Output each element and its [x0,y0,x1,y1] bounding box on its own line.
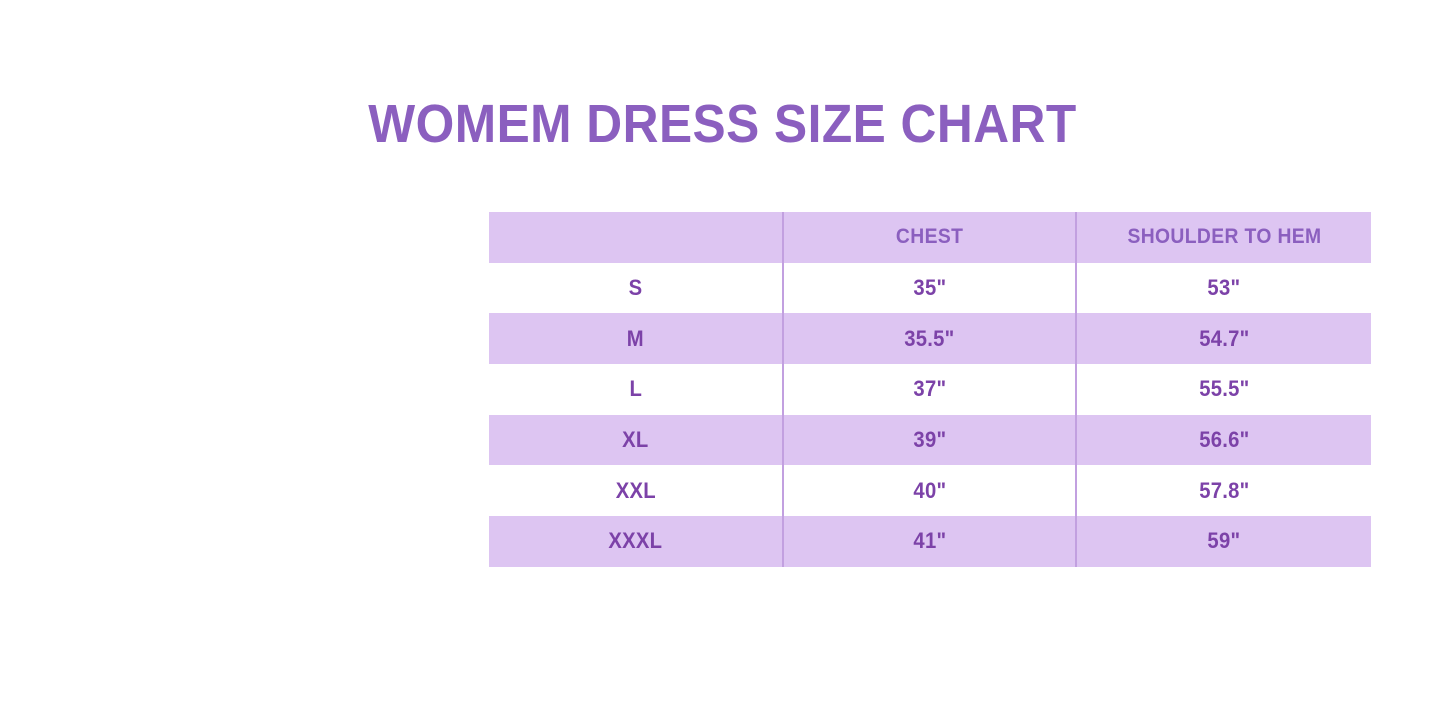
shoulder-to-hem-value: 56.6" [1199,427,1249,453]
cell-shoulder-to-hem: 54.7" [1076,313,1371,364]
cell-chest: 40" [783,465,1076,516]
shoulder-to-hem-value: 53" [1208,275,1241,301]
cell-size: L [489,364,783,415]
cell-size: XL [489,415,783,466]
shoulder-to-hem-value: 59" [1208,528,1241,554]
table-row: XXL 40" 57.8" [489,465,1371,516]
column-header-shoulder-to-hem: SHOULDER TO HEM [1076,212,1371,263]
size-value: L [629,376,642,402]
cell-shoulder-to-hem: 57.8" [1076,465,1371,516]
size-value: XL [622,427,648,453]
size-chart-table: CHEST SHOULDER TO HEM S 35" 53" M 35.5" [489,212,1371,567]
table-row: L 37" 55.5" [489,364,1371,415]
cell-size: XXXL [489,516,783,567]
cell-shoulder-to-hem: 59" [1076,516,1371,567]
page-title: WOMEM DRESS SIZE CHART [58,92,1387,156]
size-value: XXL [615,478,655,504]
cell-chest: 37" [783,364,1076,415]
chest-value: 39" [913,427,946,453]
table-row: S 35" 53" [489,263,1371,314]
shoulder-to-hem-value: 54.7" [1199,326,1249,352]
chest-value: 37" [913,376,946,402]
size-value: XXXL [609,528,663,554]
cell-shoulder-to-hem: 53" [1076,263,1371,314]
cell-chest: 35" [783,263,1076,314]
cell-chest: 39" [783,415,1076,466]
table-header-row: CHEST SHOULDER TO HEM [489,212,1371,263]
shoulder-to-hem-value: 57.8" [1199,478,1249,504]
cell-chest: 35.5" [783,313,1076,364]
shoulder-to-hem-value: 55.5" [1199,376,1249,402]
table-row: XL 39" 56.6" [489,415,1371,466]
cell-shoulder-to-hem: 55.5" [1076,364,1371,415]
column-header-chest-label: CHEST [896,225,963,249]
cell-shoulder-to-hem: 56.6" [1076,415,1371,466]
chest-value: 41" [913,528,946,554]
chest-value: 35" [913,275,946,301]
cell-size: S [489,263,783,314]
cell-chest: 41" [783,516,1076,567]
column-header-shoulder-to-hem-label: SHOULDER TO HEM [1127,225,1321,249]
size-value: M [627,326,644,352]
cell-size: M [489,313,783,364]
table-row: XXXL 41" 59" [489,516,1371,567]
table-row: M 35.5" 54.7" [489,313,1371,364]
column-header-size [489,212,783,263]
chest-value: 40" [913,478,946,504]
cell-size: XXL [489,465,783,516]
size-value: S [629,275,643,301]
column-header-chest: CHEST [783,212,1076,263]
chest-value: 35.5" [904,326,954,352]
